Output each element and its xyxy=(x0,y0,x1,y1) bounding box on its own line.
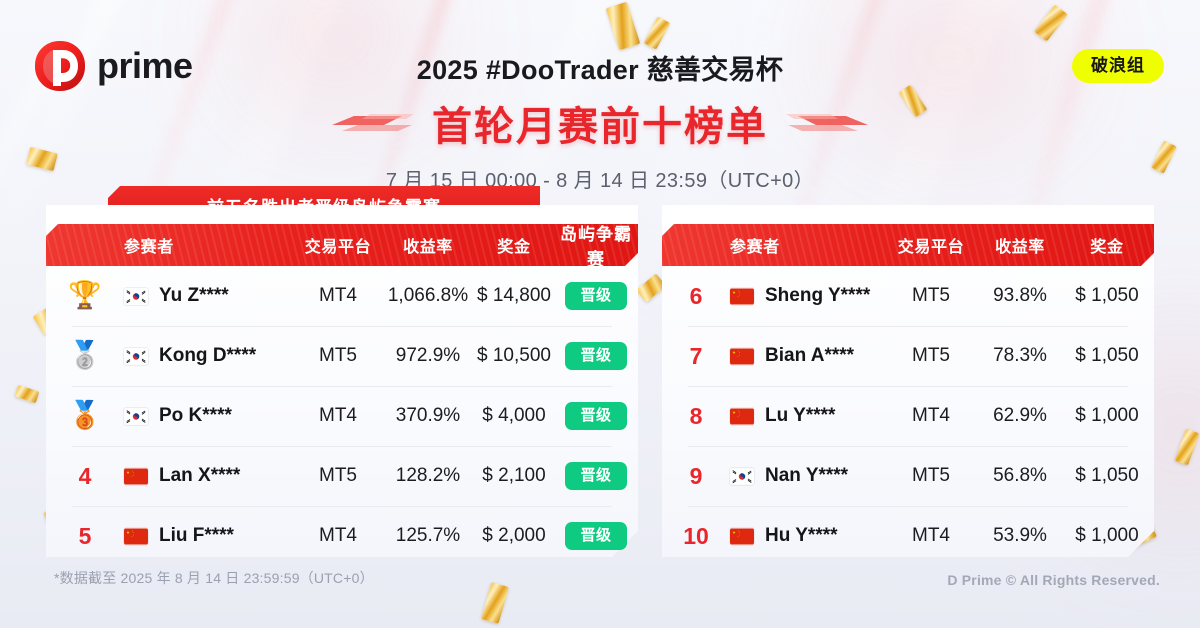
table-header-left: 参赛者 交易平台 收益率 奖金 岛屿争霸赛 xyxy=(46,224,638,266)
column-header-island-cup: 岛屿争霸赛 xyxy=(554,224,638,266)
table-row[interactable]: 7Bian A****MT578.3%$ 1,050 xyxy=(662,326,1154,386)
speed-lines-right-icon xyxy=(786,110,868,136)
rank-cell: 8 xyxy=(662,403,730,430)
prize-cell: $ 10,500 xyxy=(474,345,554,367)
flag-china-icon xyxy=(730,348,754,365)
status-badge: 晋级 xyxy=(565,522,626,550)
bronze-trophy-icon: 🥉 xyxy=(68,400,102,430)
participant-cell: Hu Y**** xyxy=(730,525,886,547)
column-header-return: 收益率 xyxy=(382,233,474,257)
prize-cell: $ 2,100 xyxy=(474,465,554,487)
footer-copyright: D Prime © All Rights Reserved. xyxy=(947,572,1160,588)
status-badge: 晋级 xyxy=(565,462,626,490)
return-rate-cell: 1,066.8% xyxy=(382,285,474,307)
return-rate-cell: 128.2% xyxy=(382,465,474,487)
rank-cell: 4 xyxy=(46,463,124,490)
rank-cell: 7 xyxy=(662,343,730,370)
flag-china-icon xyxy=(124,468,148,485)
silver-trophy-icon: 🥈 xyxy=(68,340,102,370)
platform-cell: MT5 xyxy=(886,285,976,307)
column-header-return: 收益率 xyxy=(976,233,1064,257)
participant-cell: Sheng Y**** xyxy=(730,285,886,307)
participant-cell: Nan Y**** xyxy=(730,465,886,487)
column-header-platform: 交易平台 xyxy=(294,233,382,257)
page-subtitle: 首轮月赛前十榜单 xyxy=(432,94,768,152)
return-rate-cell: 125.7% xyxy=(382,525,474,547)
participant-cell: Po K**** xyxy=(124,405,294,427)
participant-name: Lan X**** xyxy=(159,465,240,487)
participant-name: Nan Y**** xyxy=(765,465,848,487)
prize-cell: $ 14,800 xyxy=(474,285,554,307)
flag-china-icon xyxy=(730,528,754,545)
flag-china-icon xyxy=(730,408,754,425)
leaderboard-rows-right: 6Sheng Y****MT593.8%$ 1,0507Bian A****MT… xyxy=(662,266,1154,566)
island-cup-status-cell: 晋级 xyxy=(554,462,638,490)
participant-cell: Bian A**** xyxy=(730,345,886,367)
prize-cell: $ 1,050 xyxy=(1064,345,1150,367)
flag-south-korea-icon xyxy=(730,468,754,485)
rank-cell: 9 xyxy=(662,463,730,490)
column-header-participant: 参赛者 xyxy=(124,233,294,257)
rank-number: 6 xyxy=(690,283,703,309)
column-header-prize: 奖金 xyxy=(1064,233,1150,257)
return-rate-cell: 93.8% xyxy=(976,285,1064,307)
flag-south-korea-icon xyxy=(124,408,148,425)
rank-cell: 6 xyxy=(662,283,730,310)
island-cup-status-cell: 晋级 xyxy=(554,522,638,550)
rank-number: 7 xyxy=(690,343,703,369)
prize-cell: $ 1,050 xyxy=(1064,285,1150,307)
rank-number: 4 xyxy=(79,463,92,489)
rank-cell: 5 xyxy=(46,523,124,550)
prize-cell: $ 4,000 xyxy=(474,405,554,427)
table-row[interactable]: 🏆Yu Z****MT41,066.8%$ 14,800晋级 xyxy=(46,266,638,326)
rank-number: 8 xyxy=(690,403,703,429)
status-badge: 晋级 xyxy=(565,342,626,370)
rank-cell: 🏆 xyxy=(46,282,124,310)
status-badge: 晋级 xyxy=(565,282,626,310)
header-titles: 2025 #DooTrader 慈善交易杯 首轮月赛前十榜单 7 月 15 日 … xyxy=(0,48,1200,193)
island-cup-status-cell: 晋级 xyxy=(554,402,638,430)
column-header-participant: 参赛者 xyxy=(730,233,886,257)
prize-cell: $ 2,000 xyxy=(474,525,554,547)
table-row[interactable]: 🥈Kong D****MT5972.9%$ 10,500晋级 xyxy=(46,326,638,386)
flag-china-icon xyxy=(730,288,754,305)
rank-number: 5 xyxy=(79,523,92,549)
participant-name: Bian A**** xyxy=(765,345,854,367)
column-header-platform: 交易平台 xyxy=(886,233,976,257)
page-title: 2025 #DooTrader 慈善交易杯 xyxy=(0,48,1200,87)
participant-name: Po K**** xyxy=(159,405,232,427)
platform-cell: MT4 xyxy=(294,525,382,547)
platform-cell: MT5 xyxy=(294,465,382,487)
leaderboard-rows-left: 🏆Yu Z****MT41,066.8%$ 14,800晋级🥈Kong D***… xyxy=(46,266,638,566)
participant-name: Kong D**** xyxy=(159,345,256,367)
prize-cell: $ 1,000 xyxy=(1064,525,1150,547)
platform-cell: MT4 xyxy=(294,285,382,307)
platform-cell: MT4 xyxy=(886,405,976,427)
island-cup-status-cell: 晋级 xyxy=(554,342,638,370)
prize-cell: $ 1,000 xyxy=(1064,405,1150,427)
participant-cell: Lu Y**** xyxy=(730,405,886,427)
flag-china-icon xyxy=(124,528,148,545)
table-row[interactable]: 6Sheng Y****MT593.8%$ 1,050 xyxy=(662,266,1154,326)
gold-trophy-icon: 🏆 xyxy=(68,280,102,310)
rank-number: 10 xyxy=(683,523,709,549)
participant-cell: Liu F**** xyxy=(124,525,294,547)
table-row[interactable]: 9Nan Y****MT556.8%$ 1,050 xyxy=(662,446,1154,506)
participant-name: Liu F**** xyxy=(159,525,234,547)
table-row[interactable]: 4Lan X****MT5128.2%$ 2,100晋级 xyxy=(46,446,638,506)
participant-name: Lu Y**** xyxy=(765,405,835,427)
participant-name: Sheng Y**** xyxy=(765,285,870,307)
platform-cell: MT5 xyxy=(886,345,976,367)
return-rate-cell: 62.9% xyxy=(976,405,1064,427)
poster-canvas: prime 破浪组 2025 #DooTrader 慈善交易杯 首轮月赛前十榜单… xyxy=(0,0,1200,628)
platform-cell: MT5 xyxy=(294,345,382,367)
speed-lines-left-icon xyxy=(332,110,414,136)
participant-name: Hu Y**** xyxy=(765,525,838,547)
table-row[interactable]: 8Lu Y****MT462.9%$ 1,000 xyxy=(662,386,1154,446)
footer-note: *数据截至 2025 年 8 月 14 日 23:59:59（UTC+0） xyxy=(54,568,374,588)
return-rate-cell: 56.8% xyxy=(976,465,1064,487)
return-rate-cell: 78.3% xyxy=(976,345,1064,367)
status-badge: 晋级 xyxy=(565,402,626,430)
rank-cell: 10 xyxy=(662,523,730,550)
participant-cell: Lan X**** xyxy=(124,465,294,487)
island-cup-status-cell: 晋级 xyxy=(554,282,638,310)
participant-name: Yu Z**** xyxy=(159,285,229,307)
flag-south-korea-icon xyxy=(124,348,148,365)
table-row[interactable]: 10Hu Y****MT453.9%$ 1,000 xyxy=(662,506,1154,566)
return-rate-cell: 53.9% xyxy=(976,525,1064,547)
prize-cell: $ 1,050 xyxy=(1064,465,1150,487)
table-header-right: 参赛者 交易平台 收益率 奖金 xyxy=(662,224,1154,266)
participant-cell: Yu Z**** xyxy=(124,285,294,307)
participant-cell: Kong D**** xyxy=(124,345,294,367)
platform-cell: MT5 xyxy=(886,465,976,487)
column-header-prize: 奖金 xyxy=(474,233,554,257)
table-row[interactable]: 5Liu F****MT4125.7%$ 2,000晋级 xyxy=(46,506,638,566)
rank-cell: 🥉 xyxy=(46,402,124,430)
rank-cell: 🥈 xyxy=(46,342,124,370)
rank-number: 9 xyxy=(690,463,703,489)
table-row[interactable]: 🥉Po K****MT4370.9%$ 4,000晋级 xyxy=(46,386,638,446)
flag-south-korea-icon xyxy=(124,288,148,305)
return-rate-cell: 370.9% xyxy=(382,405,474,427)
platform-cell: MT4 xyxy=(886,525,976,547)
return-rate-cell: 972.9% xyxy=(382,345,474,367)
platform-cell: MT4 xyxy=(294,405,382,427)
